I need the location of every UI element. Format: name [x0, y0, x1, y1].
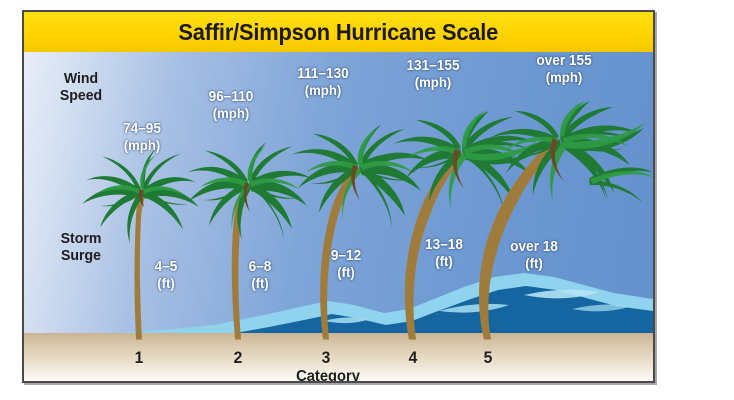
surge-callout-cat3: 9–12 (ft)	[312, 249, 380, 280]
wind-speed-row-label: Wind Speed	[41, 70, 122, 105]
wind-callout-cat2: 96–110 (mph)	[189, 90, 274, 121]
wind-callout-cat3: 111–130 (mph)	[279, 67, 367, 98]
surge-value-cat5: over 18	[510, 239, 558, 255]
surge-unit-cat1: (ft)	[136, 276, 196, 291]
category-number-1: 1	[135, 348, 144, 368]
axis-label-category: Category	[296, 368, 360, 383]
wind-unit-cat3: (mph)	[279, 83, 367, 98]
storm-surge-label-line2: Surge	[61, 247, 101, 264]
wind-callout-cat4: 131–155 (mph)	[389, 59, 477, 90]
surge-unit-cat2: (ft)	[230, 276, 290, 291]
category-number-2: 2	[234, 348, 243, 368]
wind-unit-cat1: (mph)	[104, 138, 179, 153]
category-number-3: 3	[322, 348, 331, 368]
surge-value-cat2: 6–8	[249, 259, 272, 275]
surge-value-cat4: 13–18	[425, 237, 463, 253]
wind-value-cat4: 131–155	[406, 58, 459, 74]
wind-value-cat5: over 155	[536, 53, 591, 69]
wind-speed-label-line1: Wind	[64, 70, 98, 87]
surge-callout-cat4: 13–18 (ft)	[408, 238, 479, 269]
surge-value-cat1: 4–5	[155, 259, 178, 275]
storm-surge-label-line1: Storm	[61, 230, 102, 247]
surge-unit-cat4: (ft)	[408, 254, 479, 269]
wind-callout-cat1: 74–95 (mph)	[104, 122, 179, 153]
wind-speed-label-line2: Speed	[60, 87, 102, 104]
surge-unit-cat5: (ft)	[495, 256, 574, 271]
wind-value-cat3: 111–130	[297, 66, 349, 82]
wind-value-cat2: 96–110	[209, 89, 254, 105]
hurricane-scale-figure: Saffir/Simpson Hurricane Scale	[22, 10, 655, 383]
wind-unit-cat4: (mph)	[389, 75, 477, 90]
surge-callout-cat2: 6–8 (ft)	[230, 260, 290, 291]
wind-unit-cat5: (mph)	[517, 70, 611, 85]
category-number-4: 4	[409, 348, 418, 368]
surge-callout-cat5: over 18 (ft)	[495, 240, 574, 271]
wind-value-cat1: 74–95	[123, 121, 161, 137]
surge-value-cat3: 9–12	[331, 248, 361, 264]
palm-fronds-2	[188, 143, 311, 240]
wind-callout-cat5: over 155 (mph)	[517, 54, 611, 85]
palm-tree-2	[188, 143, 311, 340]
surge-callout-cat1: 4–5 (ft)	[136, 260, 196, 291]
category-number-5: 5	[484, 348, 493, 368]
infographic-stage: Saffir/Simpson Hurricane Scale	[0, 0, 734, 400]
surge-unit-cat3: (ft)	[312, 265, 380, 280]
wind-unit-cat2: (mph)	[189, 106, 274, 121]
storm-surge-row-label: Storm Surge	[41, 230, 122, 265]
